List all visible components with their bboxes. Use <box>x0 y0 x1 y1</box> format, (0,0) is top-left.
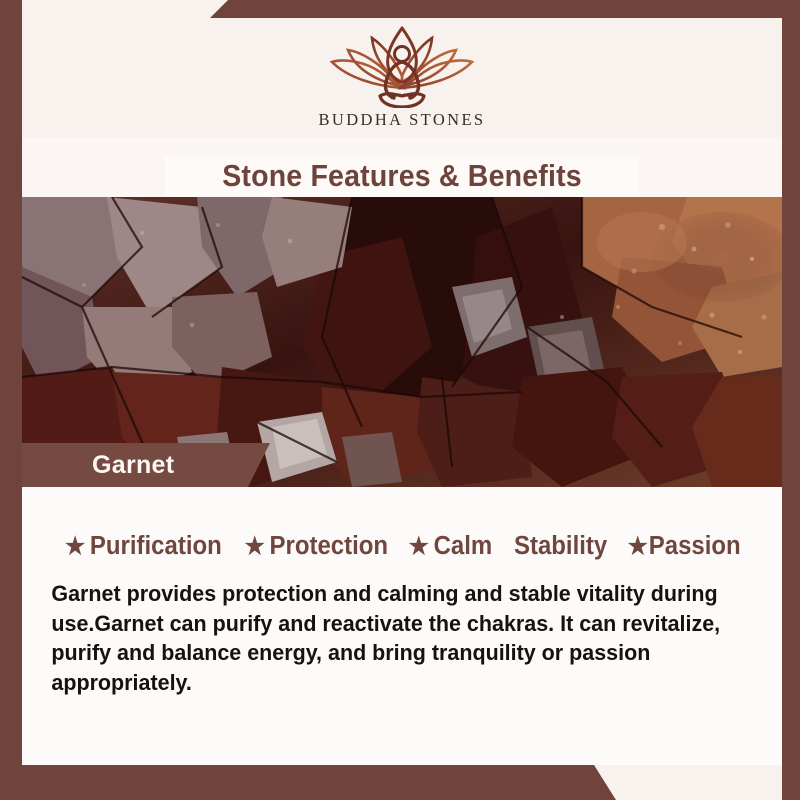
page-title: Stone Features & Benefits <box>52 158 751 194</box>
stone-name: Garnet <box>92 451 174 480</box>
feature-item-passion: ★ Passion <box>627 532 740 561</box>
feature-label: Passion <box>648 532 740 561</box>
lotus-meditation-icon <box>318 24 486 108</box>
frame-left-border <box>0 0 22 800</box>
benefits-section: ★ Purification ★ Protection ★ Calm Stabi… <box>22 487 782 765</box>
brand-logo: BUDDHA STONES <box>22 24 782 130</box>
feature-item-protection: ★ Protection <box>244 532 387 561</box>
star-icon: ★ <box>65 535 85 559</box>
star-icon: ★ <box>627 535 647 559</box>
feature-item-calm: ★ Calm <box>408 532 492 561</box>
brand-name: BUDDHA STONES <box>318 110 485 130</box>
feature-label: Purification <box>90 532 222 561</box>
poster-sheet: BUDDHA STONES Stone Features & Benefits <box>22 18 782 765</box>
feature-list: ★ Purification ★ Protection ★ Calm Stabi… <box>38 532 766 561</box>
feature-item-purification: ★ Purification <box>65 532 222 561</box>
brand-header: BUDDHA STONES <box>22 18 782 138</box>
frame-top-border <box>0 0 800 18</box>
frame-bottom-border <box>0 765 800 800</box>
feature-label: Calm <box>433 532 492 561</box>
stone-description: Garnet provides protection and calming a… <box>38 579 733 698</box>
feature-item-stability: Stability <box>514 532 607 561</box>
feature-label: Protection <box>269 532 388 561</box>
stone-name-banner: Garnet <box>22 443 270 487</box>
feature-label: Stability <box>514 532 607 561</box>
star-icon: ★ <box>408 535 428 559</box>
frame-right-border <box>782 0 800 800</box>
product-info-poster: BUDDHA STONES Stone Features & Benefits <box>0 0 800 800</box>
star-icon: ★ <box>244 535 264 559</box>
